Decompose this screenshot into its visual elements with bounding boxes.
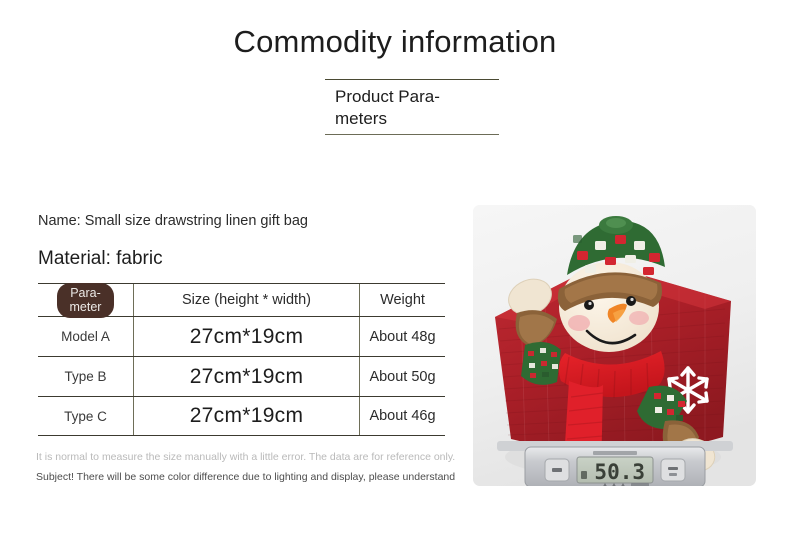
disclaimer-measurement: It is normal to measure the size manuall… (36, 450, 455, 464)
cell-weight: About 46g (360, 397, 445, 435)
cell-model: Type C (38, 397, 134, 435)
specification-table: Para- meter Size (height * width) Weight… (38, 283, 445, 436)
table-row: Model A 27cm*19cm About 48g (38, 316, 445, 356)
cell-size: 27cm*19cm (134, 317, 360, 356)
page-title: Commodity information (0, 22, 790, 62)
size-value: 27cm*19cm (190, 325, 304, 349)
subtitle-rule-bottom (325, 134, 499, 135)
section-subtitle-block: Product Para- meters (325, 79, 499, 135)
size-value: 27cm*19cm (190, 404, 304, 428)
weight-value: About 48g (369, 329, 435, 345)
product-name-label: Name: Small size drawstring linen gift b… (38, 211, 308, 231)
table-header-row: Para- meter Size (height * width) Weight (38, 283, 445, 316)
cell-model: Type B (38, 357, 134, 396)
model-label: Type B (64, 369, 106, 384)
header-label-size: Size (height * width) (182, 292, 311, 308)
table-row: Type C 27cm*19cm About 46g (38, 396, 445, 436)
product-info-page: Commodity information Product Para- mete… (0, 0, 790, 546)
header-cell-parameter: Para- meter (38, 284, 134, 316)
product-photo-illustration: 50.3 (473, 205, 756, 486)
header-cell-weight: Weight (360, 284, 445, 316)
header-cell-size: Size (height * width) (134, 284, 360, 316)
model-label: Type C (64, 409, 107, 424)
scale-reading: 50.3 (594, 460, 645, 484)
table-row: Type B 27cm*19cm About 50g (38, 356, 445, 396)
cell-weight: About 50g (360, 357, 445, 396)
model-label: Model A (61, 329, 110, 344)
cell-size: 27cm*19cm (134, 397, 360, 435)
parameter-badge: Para- meter (57, 283, 115, 318)
product-material-label: Material: fabric (38, 246, 163, 272)
product-photo: 50.3 (473, 205, 756, 486)
header-label-weight: Weight (380, 292, 425, 308)
cell-model: Model A (38, 317, 134, 356)
cell-size: 27cm*19cm (134, 357, 360, 396)
size-value: 27cm*19cm (190, 365, 304, 389)
cell-weight: About 48g (360, 317, 445, 356)
section-subtitle-label: Product Para- meters (325, 80, 499, 134)
disclaimer-color: Subject! There will be some color differ… (36, 470, 455, 484)
weight-value: About 50g (369, 369, 435, 385)
weight-value: About 46g (369, 408, 435, 424)
